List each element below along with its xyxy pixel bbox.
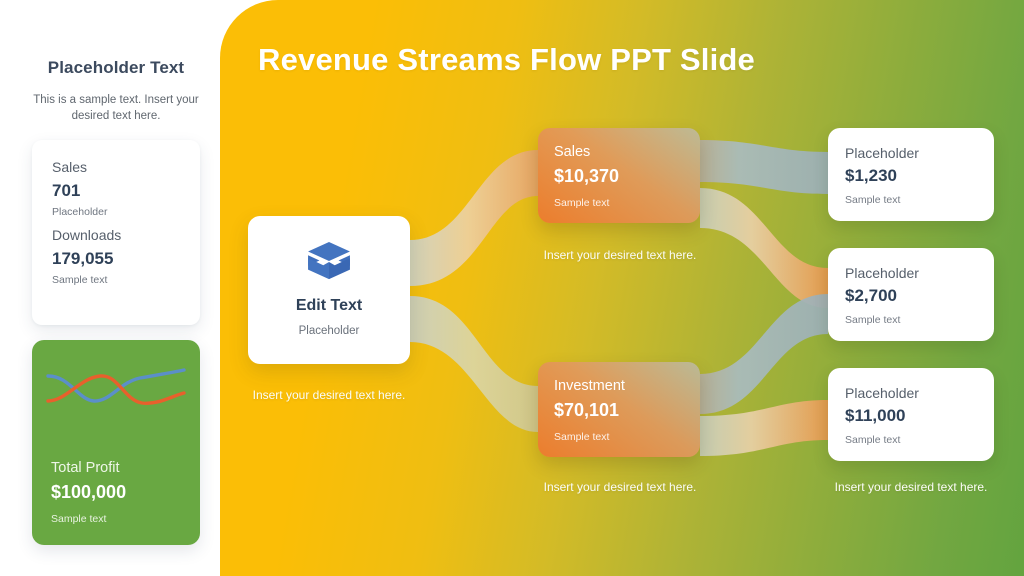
mid-node-label: Sales <box>554 142 700 162</box>
total-profit-card: Total Profit $100,000 Sample text <box>32 340 200 545</box>
mid-node-value: $70,101 <box>554 397 700 423</box>
total-profit-label: Total Profit <box>51 458 126 478</box>
stat-value: 701 <box>52 179 107 202</box>
main-panel: Revenue Streams Flow PPT Slide <box>220 0 1024 576</box>
mid-node-investment[interactable]: Investment $70,101 Sample text <box>538 362 700 457</box>
right-nodes-caption: Insert your desired text here. <box>820 478 1002 497</box>
stat-item: Sales 701 Placeholder <box>52 158 107 220</box>
total-profit-note: Sample text <box>51 511 126 527</box>
right-node-label: Placeholder <box>845 263 994 283</box>
slide-root: Placeholder Text This is a sample text. … <box>0 0 1024 576</box>
stat-label: Downloads <box>52 226 121 245</box>
right-node-value: $1,230 <box>845 164 994 188</box>
right-node-2[interactable]: Placeholder $2,700 Sample text <box>828 248 994 341</box>
right-node-label: Placeholder <box>845 143 994 163</box>
right-node-note: Sample text <box>845 312 994 328</box>
mid-node-note: Sample text <box>554 429 700 445</box>
right-node-value: $11,000 <box>845 404 994 428</box>
right-node-3[interactable]: Placeholder $11,000 Sample text <box>828 368 994 461</box>
mid-node-value: $10,370 <box>554 163 700 189</box>
sidebar-stats-card: Sales 701 Placeholder Downloads 179,055 … <box>32 140 200 325</box>
open-box-icon <box>306 241 352 281</box>
mid-node-note: Sample text <box>554 195 700 211</box>
sidebar-subtitle: This is a sample text. Insert your desir… <box>26 92 206 124</box>
stat-value: 179,055 <box>52 247 121 270</box>
stat-label: Sales <box>52 158 107 177</box>
right-node-note: Sample text <box>845 432 994 448</box>
source-node-title: Edit Text <box>296 295 362 316</box>
source-node-caption: Insert your desired text here. <box>238 386 420 405</box>
total-profit-text: Total Profit $100,000 Sample text <box>51 458 126 527</box>
mid-node-investment-caption: Insert your desired text here. <box>530 478 710 497</box>
right-node-note: Sample text <box>845 192 994 208</box>
mid-node-sales-caption: Insert your desired text here. <box>530 246 710 265</box>
total-profit-value: $100,000 <box>51 479 126 505</box>
stat-note: Sample text <box>52 273 121 288</box>
sidebar: Placeholder Text This is a sample text. … <box>0 0 232 576</box>
right-node-label: Placeholder <box>845 383 994 403</box>
source-node-card[interactable]: Edit Text Placeholder <box>248 216 410 364</box>
mid-node-sales[interactable]: Sales $10,370 Sample text <box>538 128 700 223</box>
stat-item: Downloads 179,055 Sample text <box>52 226 121 288</box>
stat-note: Placeholder <box>52 205 107 220</box>
mid-node-label: Investment <box>554 376 700 396</box>
right-node-1[interactable]: Placeholder $1,230 Sample text <box>828 128 994 221</box>
right-node-value: $2,700 <box>845 284 994 308</box>
sidebar-title: Placeholder Text <box>0 58 232 78</box>
source-node-subtitle: Placeholder <box>299 323 360 340</box>
sparkline-chart-icon <box>44 362 188 414</box>
